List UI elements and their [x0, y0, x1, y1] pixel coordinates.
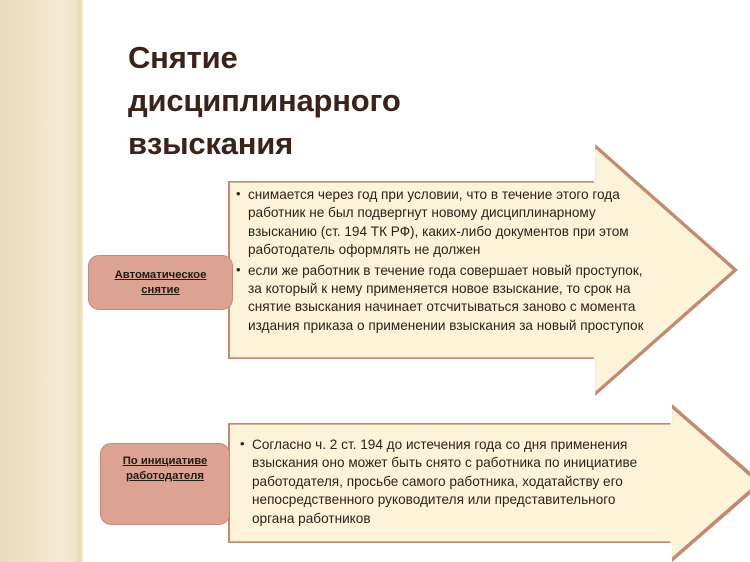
- decorative-band-edge: [81, 0, 83, 562]
- bullet-list-employer: Согласно ч. 2 ст. 194 до истечения года …: [240, 436, 660, 530]
- label-automatic-removal-text: Автоматическое снятие: [95, 268, 226, 297]
- list-item: снимается через год при условии, что в т…: [236, 186, 646, 260]
- page-title: Снятие дисциплинарного взыскания: [128, 36, 548, 165]
- decorative-left-band: [0, 0, 81, 562]
- bullet-list-automatic: снимается через год при условии, что в т…: [236, 186, 646, 337]
- label-automatic-removal[interactable]: Автоматическое снятие: [88, 255, 233, 310]
- slide-canvas: Снятие дисциплинарного взыскания снимает…: [0, 0, 750, 562]
- list-item: если же работник в течение года совершае…: [236, 262, 646, 336]
- list-item: Согласно ч. 2 ст. 194 до истечения года …: [240, 436, 660, 528]
- label-employer-initiative[interactable]: По инициативе работодателя: [100, 443, 230, 525]
- label-employer-initiative-text: По инициативе работодателя: [107, 454, 223, 483]
